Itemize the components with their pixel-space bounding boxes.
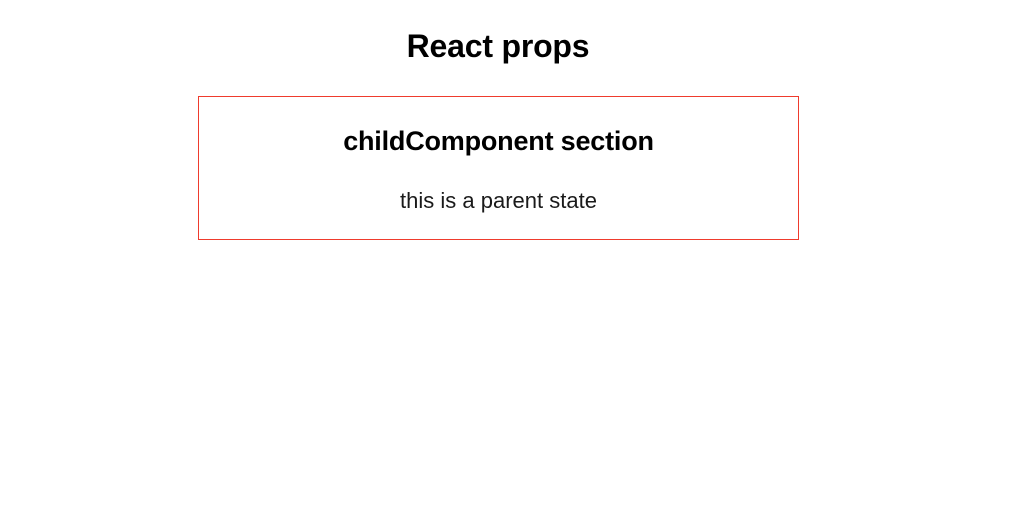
parent-state-text: this is a parent state bbox=[199, 188, 798, 214]
child-component-heading: childComponent section bbox=[199, 124, 798, 158]
child-component-panel: childComponent section this is a parent … bbox=[198, 96, 799, 240]
app-root: React props childComponent section this … bbox=[0, 0, 1024, 511]
child-component-panel-inner: childComponent section this is a parent … bbox=[199, 97, 798, 239]
page-title: React props bbox=[0, 26, 996, 66]
